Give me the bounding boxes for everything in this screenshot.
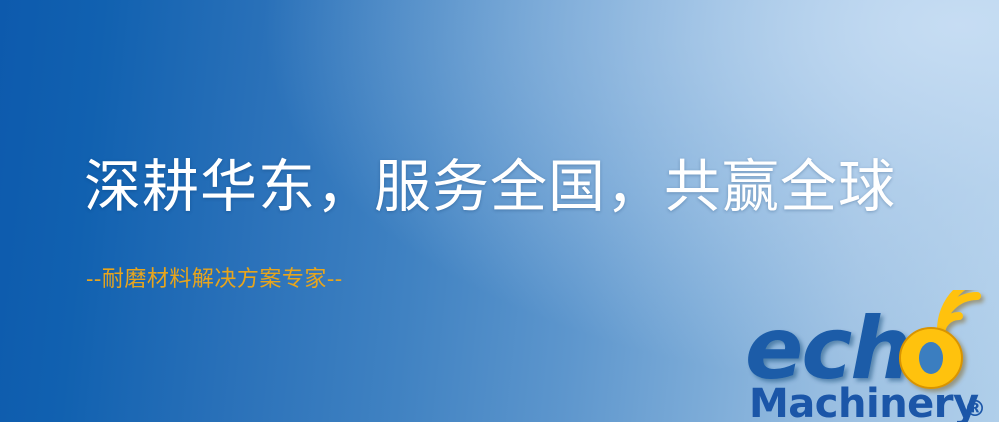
logo-wordmark-gold-o xyxy=(900,328,962,388)
hero-banner: 深耕华东，服务全国，共赢全球 --耐磨材料解决方案专家-- ech xyxy=(0,0,999,422)
logo-trademark-icon: ® xyxy=(964,397,986,422)
banner-subtitle: --耐磨材料解决方案专家-- xyxy=(86,265,343,295)
logo-tagline: Machinery xyxy=(749,381,979,422)
signal-arcs-icon xyxy=(941,290,995,334)
echo-machinery-logo[interactable]: ech Machinery ® xyxy=(745,290,999,422)
banner-headline: 深耕华东，服务全国，共赢全球 xyxy=(84,153,896,221)
